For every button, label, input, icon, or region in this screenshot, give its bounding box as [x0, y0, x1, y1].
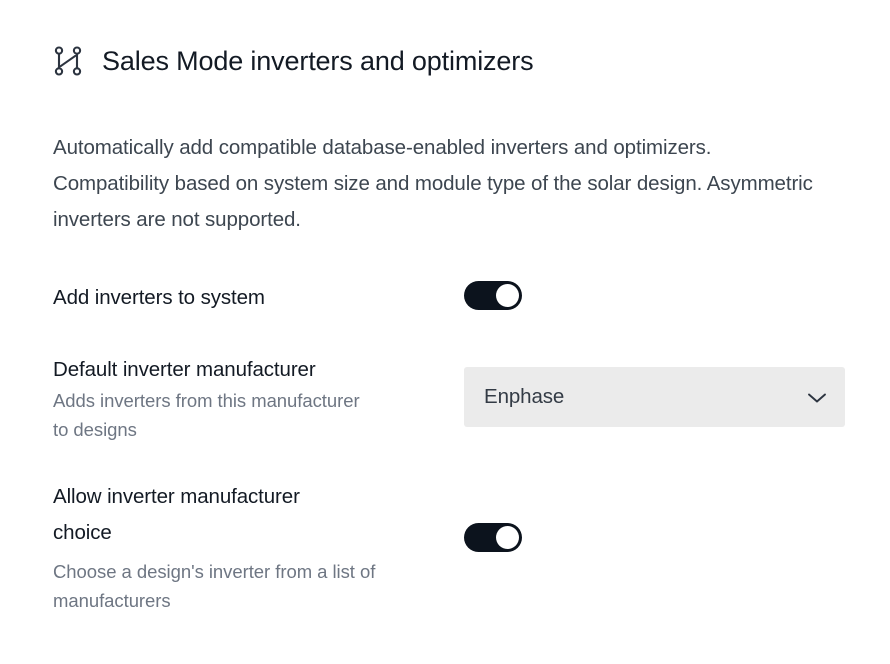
add-inverters-toggle[interactable] [464, 281, 522, 310]
setting-row-allow-choice: Allow inverter manufacturer choice Choos… [53, 479, 845, 604]
default-manufacturer-label: Default inverter manufacturer [53, 356, 453, 383]
allow-choice-label-line2: choice [53, 521, 112, 544]
allow-choice-sublabel-line2: manufacturers [53, 590, 171, 611]
toggle-knob [496, 526, 519, 549]
allow-choice-control [464, 523, 522, 552]
allow-choice-label-line1: Allow inverter manufacturer [53, 485, 300, 508]
setting-row-add-inverters: Add inverters to system [53, 281, 845, 321]
default-manufacturer-sublabel-line1: Adds inverters from this manufacturer [53, 390, 360, 411]
allow-choice-sublabel-line1: Choose a design's inverter from a list o… [53, 561, 375, 582]
default-manufacturer-control: Enphase [464, 367, 845, 427]
default-manufacturer-sublabel: Adds inverters from this manufacturer to… [53, 386, 453, 444]
page-title: Sales Mode inverters and optimizers [102, 44, 533, 78]
sales-mode-inverters-settings-panel: Sales Mode inverters and optimizers Auto… [0, 0, 890, 664]
default-manufacturer-selected-value: Enphase [484, 384, 807, 410]
inverter-nodes-icon [53, 44, 83, 78]
section-header: Sales Mode inverters and optimizers [53, 44, 533, 78]
default-manufacturer-select[interactable]: Enphase [464, 367, 845, 427]
add-inverters-label: Add inverters to system [53, 284, 453, 311]
default-manufacturer-sublabel-line2: to designs [53, 419, 137, 440]
add-inverters-control [464, 281, 522, 310]
default-manufacturer-label-group: Default inverter manufacturer Adds inver… [53, 356, 453, 444]
setting-row-default-manufacturer: Default inverter manufacturer Adds inver… [53, 356, 845, 446]
chevron-down-icon [807, 391, 827, 403]
allow-choice-sublabel: Choose a design's inverter from a list o… [53, 557, 453, 615]
add-inverters-label-group: Add inverters to system [53, 284, 453, 311]
allow-choice-label-group: Allow inverter manufacturer choice Choos… [53, 479, 453, 615]
section-description: Automatically add compatible database-en… [53, 130, 828, 238]
allow-choice-label: Allow inverter manufacturer choice [53, 479, 453, 551]
toggle-knob [496, 284, 519, 307]
allow-choice-toggle[interactable] [464, 523, 522, 552]
